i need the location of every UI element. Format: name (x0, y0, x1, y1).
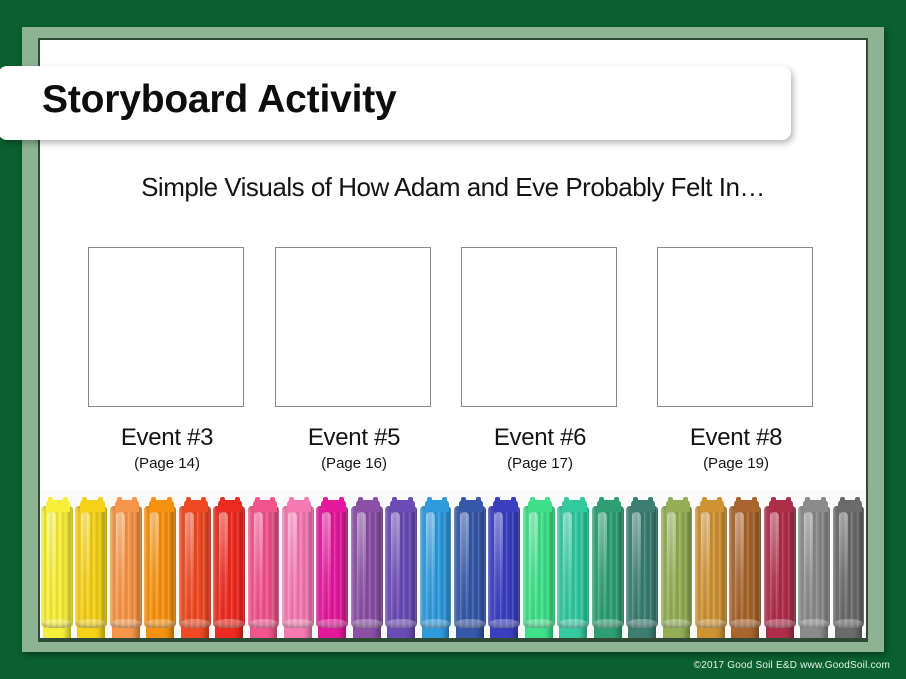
marker-pen (695, 496, 727, 638)
marker-pen (454, 496, 486, 638)
slide-subtitle: Simple Visuals of How Adam and Eve Proba… (0, 172, 906, 203)
marker-pen (592, 496, 624, 638)
storyboard-event-label: Event #8 (657, 424, 815, 452)
marker-pen (351, 496, 383, 638)
marker-pen (488, 496, 520, 638)
storyboard-event-label: Event #5 (275, 424, 433, 452)
storyboard-grid: Event #3(Page 14)Event #5(Page 16)Event … (0, 247, 906, 477)
page-title: Storyboard Activity (42, 78, 397, 122)
storyboard-page-reference: (Page 16) (275, 455, 433, 472)
marker-pen (523, 496, 555, 638)
marker-pen (41, 496, 73, 638)
marker-pen (144, 496, 176, 638)
marker-pen (248, 496, 280, 638)
marker-pen (661, 496, 693, 638)
storyboard-page-reference: (Page 17) (461, 455, 619, 472)
marker-pen (729, 496, 761, 638)
marker-pen (557, 496, 589, 638)
marker-pen (316, 496, 348, 638)
marker-pen (213, 496, 245, 638)
storyboard-drawing-area[interactable] (657, 247, 813, 407)
storyboard-item-4[interactable]: Event #8(Page 19) (657, 247, 815, 472)
storyboard-event-label: Event #6 (461, 424, 619, 452)
marker-pen (626, 496, 658, 638)
storyboard-item-1[interactable]: Event #3(Page 14) (88, 247, 246, 472)
storyboard-drawing-area[interactable] (88, 247, 244, 407)
marker-pen (833, 496, 865, 638)
marker-pen (110, 496, 142, 638)
storyboard-item-3[interactable]: Event #6(Page 17) (461, 247, 619, 472)
marker-pen (75, 496, 107, 638)
storyboard-item-2[interactable]: Event #5(Page 16) (275, 247, 433, 472)
storyboard-page-reference: (Page 14) (88, 455, 246, 472)
storyboard-drawing-area[interactable] (461, 247, 617, 407)
slide: Storyboard Activity Simple Visuals of Ho… (0, 0, 906, 679)
storyboard-event-label: Event #3 (88, 424, 246, 452)
footer-copyright: ©2017 Good Soil E&D www.GoodSoil.com (694, 660, 890, 671)
storyboard-drawing-area[interactable] (275, 247, 431, 407)
marker-pen (282, 496, 314, 638)
marker-pen (764, 496, 796, 638)
marker-pen (798, 496, 830, 638)
marker-pen (385, 496, 417, 638)
storyboard-page-reference: (Page 19) (657, 455, 815, 472)
marker-photo-strip (40, 490, 866, 638)
marker-pen (420, 496, 452, 638)
marker-pen (179, 496, 211, 638)
